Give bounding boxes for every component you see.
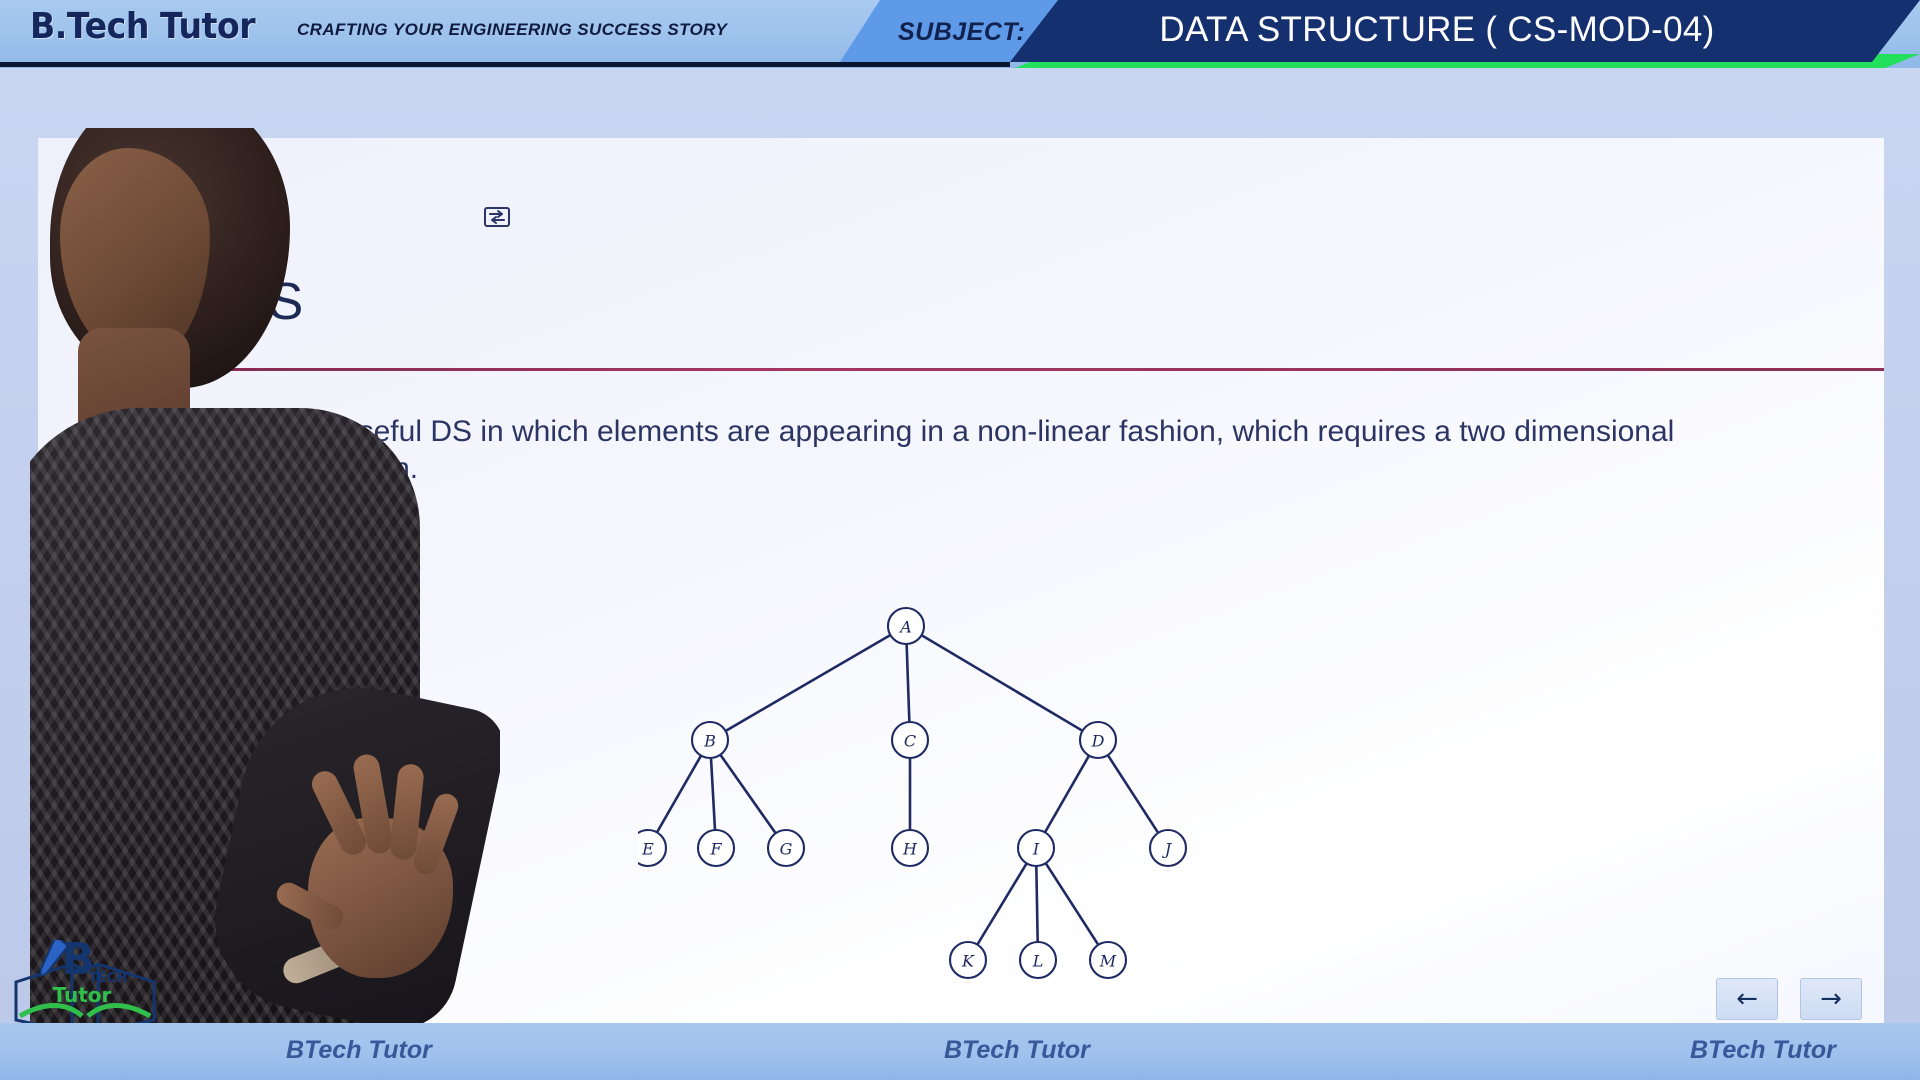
tree-node-label: K	[961, 952, 975, 971]
tree-edge-I-K	[977, 863, 1026, 944]
tree-node-label: A	[898, 618, 912, 637]
tree-node-label: G	[780, 840, 793, 859]
tree-edge-A-D	[921, 635, 1082, 731]
tree-node-C: C	[892, 722, 928, 758]
tree-node-label: M	[1099, 952, 1117, 971]
tree-edge-B-G	[720, 755, 775, 834]
slide-canvas: BTech Tutor BTech Tutor TREES Tree is a …	[38, 138, 1884, 1080]
tree-edge-I-M	[1046, 863, 1099, 945]
swap-icon[interactable]	[483, 206, 511, 228]
arrow-right-icon: →	[1820, 984, 1842, 1014]
tree-node-F: F	[698, 830, 734, 866]
subject-title-ribbon: DATA STRUCTURE ( CS-MOD-04)	[1010, 0, 1920, 62]
app-header: B.Tech Tutor CRAFTING YOUR ENGINEERING S…	[0, 0, 1920, 68]
tree-edge-D-J	[1108, 755, 1158, 833]
previous-slide-button[interactable]: ←	[1716, 978, 1778, 1020]
tree-node-I: I	[1018, 830, 1054, 866]
tree-diagram: ABCDEFGHIJKLM	[638, 598, 1278, 1018]
brand-tagline: CRAFTING YOUR ENGINEERING SUCCESS STORY	[297, 20, 727, 40]
tree-node-D: D	[1080, 722, 1116, 758]
tree-node-M: M	[1090, 942, 1126, 978]
tree-node-J: J	[1150, 830, 1186, 866]
header-underline	[0, 62, 1010, 67]
title-divider	[124, 368, 1884, 371]
svg-text:Tutor: Tutor	[53, 983, 112, 1007]
slide-frame: BTech Tutor BTech Tutor TREES Tree is a …	[0, 68, 1920, 1023]
watermark-left: BTech Tutor	[46, 552, 74, 692]
tree-node-label: B	[703, 732, 716, 751]
footer-watermark-2: BTech Tutor	[944, 1036, 1090, 1065]
next-slide-button[interactable]: →	[1800, 978, 1862, 1020]
tree-node-label: I	[1032, 840, 1040, 859]
slide-body-text: Tree is a useful DS in which elements ar…	[218, 414, 1738, 487]
tree-edge-B-F	[711, 758, 715, 830]
page-title: TREES	[126, 272, 304, 332]
subject-label: SUBJECT:	[898, 18, 1025, 47]
tree-node-H: H	[892, 830, 928, 866]
tree-nodes: ABCDEFGHIJKLM	[638, 608, 1186, 978]
tree-edge-A-C	[907, 644, 910, 722]
tree-node-G: G	[768, 830, 804, 866]
tree-node-label: C	[904, 732, 916, 751]
tree-edges	[657, 635, 1158, 945]
arrow-left-icon: ←	[1736, 984, 1758, 1014]
tree-diagram-svg: ABCDEFGHIJKLM	[638, 598, 1278, 1018]
tree-node-E: E	[638, 830, 666, 866]
tree-node-label: E	[641, 840, 654, 859]
footer-bar: BTech Tutor BTech Tutor BTech Tutor	[0, 1023, 1920, 1080]
footer-watermark-1: BTech Tutor	[286, 1036, 432, 1065]
tree-node-L: L	[1020, 942, 1056, 978]
tree-node-label: F	[709, 840, 722, 859]
tree-edge-I-L	[1036, 866, 1037, 942]
tree-edge-B-E	[657, 756, 701, 833]
presentation-screen: B.Tech Tutor CRAFTING YOUR ENGINEERING S…	[0, 0, 1920, 1080]
tree-node-B: B	[692, 722, 728, 758]
subject-title: DATA STRUCTURE ( CS-MOD-04)	[1010, 10, 1864, 50]
tree-node-K: K	[950, 942, 986, 978]
tree-node-label: L	[1032, 952, 1044, 971]
tree-edge-D-I	[1045, 756, 1089, 833]
tree-node-A: A	[888, 608, 924, 644]
tree-node-label: H	[902, 840, 918, 859]
brand-logo-text: B.Tech Tutor	[30, 6, 255, 47]
tree-edge-A-B	[726, 635, 891, 731]
footer-watermark-3: BTech Tutor	[1690, 1036, 1836, 1065]
tree-node-label: D	[1091, 732, 1105, 751]
